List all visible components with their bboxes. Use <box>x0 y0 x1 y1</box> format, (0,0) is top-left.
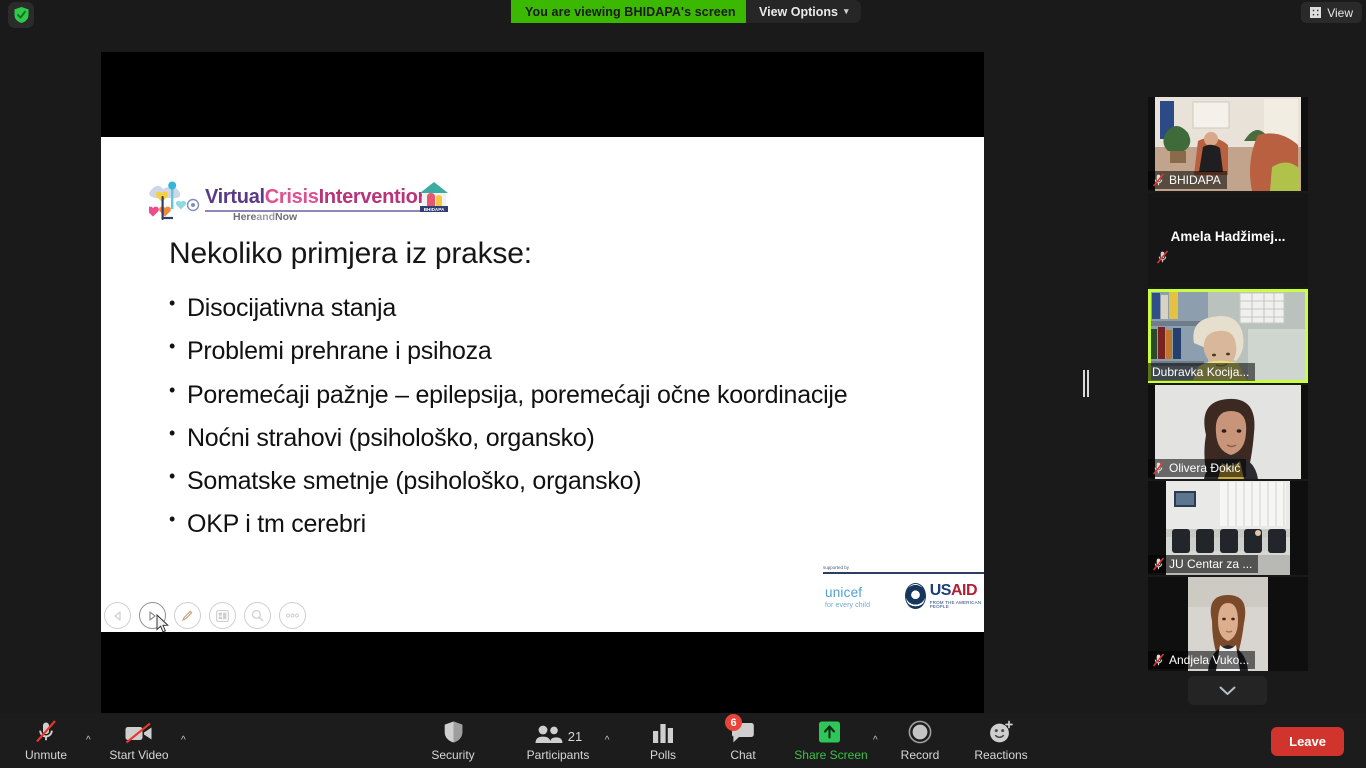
chat-button[interactable]: 6 Chat <box>703 719 783 761</box>
list-item: Noćni strahovi (psihološko, organsko) <box>169 423 899 454</box>
list-item: Poremećaji pažnje – epilepsija, poremeća… <box>169 380 899 411</box>
view-options-label: View Options <box>759 5 838 19</box>
bar-chart-icon <box>651 719 675 744</box>
participant-tile-bhidapa[interactable]: BHIDAPA <box>1148 97 1308 191</box>
zoom-search-icon[interactable] <box>244 602 271 629</box>
participant-name-badge: Andjela Vuko... <box>1148 651 1255 669</box>
usaid-logo: USAID FROM THE AMERICAN PEOPLE <box>905 583 984 610</box>
logo-sub-here: Here <box>233 211 256 223</box>
leave-label: Leave <box>1289 734 1326 749</box>
unmute-label: Unmute <box>25 749 67 761</box>
chat-unread-badge: 6 <box>725 714 742 731</box>
usaid-aid: AID <box>951 582 977 599</box>
zoom-meeting-window: You are viewing BHIDAPA's screen View Op… <box>0 0 1366 768</box>
start-video-button[interactable]: ^ Start Video <box>99 719 179 761</box>
list-item: OKP i tm cerebri <box>169 509 899 540</box>
participant-tile-olivera[interactable]: Olivera Đokić <box>1148 385 1308 479</box>
logo-sub-and: and <box>256 211 275 223</box>
view-layout-button[interactable]: View <box>1301 2 1362 23</box>
microphone-muted-icon <box>1152 461 1165 475</box>
microphone-muted-icon <box>1152 653 1165 667</box>
participant-name-badge: JU Centar za ... <box>1148 555 1258 573</box>
participant-name: Amela Hadžimej... <box>1148 229 1308 244</box>
chevron-down-icon: ▾ <box>844 6 849 17</box>
polls-label: Polls <box>650 749 676 761</box>
layout-grid-icon[interactable] <box>209 602 236 629</box>
vci-logo-subtitle: HereandNow <box>233 211 297 223</box>
viewing-screen-banner: You are viewing BHIDAPA's screen <box>511 0 750 23</box>
participant-name: Olivera Đokić <box>1169 461 1240 475</box>
audio-options-caret[interactable]: ^ <box>86 735 91 746</box>
chat-bubble-icon: 6 <box>730 719 756 744</box>
participant-name: BHIDAPA <box>1169 173 1221 187</box>
more-options-icon[interactable] <box>279 602 306 629</box>
slide-bullet-list: Disocijativna stanja Problemi prehrane i… <box>169 293 899 553</box>
presentation-slide: VirtualCrisisInterventions HereandNow BH… <box>101 137 984 632</box>
unmute-button[interactable]: ^ Unmute <box>6 719 86 761</box>
unicef-logo: unicef for every child <box>825 585 870 609</box>
unicef-tagline: for every child <box>825 602 870 609</box>
supported-by-label: supported by <box>823 565 849 570</box>
participant-name: JU Centar za ... <box>1169 557 1252 571</box>
smiley-plus-icon <box>988 719 1014 744</box>
share-screen-label: Share Screen <box>794 749 867 761</box>
participants-button[interactable]: 21 ^ Participants <box>518 719 598 761</box>
participant-tile-amela[interactable]: Amela Hadžimej... <box>1148 193 1308 287</box>
slide-sponsor-logos: supported by unicef for every child USAI… <box>823 565 984 632</box>
usaid-tagline: FROM THE AMERICAN PEOPLE <box>930 601 984 610</box>
microphone-muted-icon <box>1152 173 1165 187</box>
vci-logo-text: VirtualCrisisInterventions <box>205 186 440 209</box>
grid-icon <box>1310 7 1321 18</box>
usaid-wordmark: USAID FROM THE AMERICAN PEOPLE <box>930 583 984 610</box>
shield-icon <box>443 719 464 744</box>
record-circle-icon <box>908 719 932 744</box>
participant-name: Andjela Vuko... <box>1169 653 1249 667</box>
reactions-label: Reactions <box>974 749 1027 761</box>
participant-name-badge: BHIDAPA <box>1148 171 1227 189</box>
annotate-pen-icon[interactable] <box>174 602 201 629</box>
people-icon: 21 ^ <box>534 719 582 744</box>
share-options-caret[interactable]: ^ <box>873 735 878 746</box>
mouse-cursor <box>156 614 170 634</box>
vci-logo: VirtualCrisisInterventions HereandNow BH… <box>149 180 459 228</box>
viewing-screen-text: You are viewing BHIDAPA's screen <box>525 5 736 19</box>
logo-word-crisis: Crisis <box>265 186 319 208</box>
list-item: Problemi prehrane i psihoza <box>169 336 899 367</box>
participant-tile-dubravka[interactable]: Dubravka Kocija... <box>1148 289 1308 383</box>
vci-logo-mark <box>149 180 207 226</box>
polls-button[interactable]: Polls <box>623 719 703 761</box>
panel-drag-handle[interactable] <box>1083 370 1089 397</box>
security-button[interactable]: Security <box>413 719 493 761</box>
meeting-toolbar: ^ Unmute ^ Start Video <box>0 713 1366 768</box>
start-video-label: Start Video <box>109 749 168 761</box>
participants-count: 21 <box>568 729 582 744</box>
video-off-icon: ^ <box>124 719 154 744</box>
participant-name-badge: Olivera Đokić <box>1148 459 1246 477</box>
chat-label: Chat <box>730 749 755 761</box>
record-button[interactable]: Record <box>880 719 960 761</box>
microphone-muted-icon <box>1156 250 1169 269</box>
slide-control-toolbar <box>104 602 306 629</box>
participant-name: Dubravka Kocija... <box>1152 365 1249 379</box>
slide-title: Nekoliko primjera iz prakse: <box>169 237 532 271</box>
previous-slide-button[interactable] <box>104 602 131 629</box>
logo-word-virtual: Virtual <box>205 186 265 208</box>
reactions-button[interactable]: Reactions <box>961 719 1041 761</box>
shield-check-icon[interactable] <box>8 2 34 28</box>
participants-label: Participants <box>527 749 590 761</box>
security-label: Security <box>431 749 474 761</box>
svg-text:BHIDAPA: BHIDAPA <box>424 207 445 212</box>
list-item: Disocijativna stanja <box>169 293 899 324</box>
leave-meeting-button[interactable]: Leave <box>1271 727 1344 756</box>
usaid-seal-icon <box>905 583 926 609</box>
microphone-muted-icon: ^ <box>34 719 58 744</box>
participant-tile-andjela[interactable]: Andjela Vuko... <box>1148 577 1308 671</box>
microphone-muted-icon <box>1152 557 1165 571</box>
chevron-down-icon <box>1219 686 1236 696</box>
record-label: Record <box>901 749 940 761</box>
unicef-name: unicef <box>825 585 870 600</box>
video-options-caret[interactable]: ^ <box>181 735 186 746</box>
sponsor-divider <box>823 572 984 574</box>
usaid-us: US <box>930 582 951 599</box>
share-arrow-up-icon: ^ <box>816 719 846 744</box>
participants-caret[interactable]: ^ <box>605 735 610 746</box>
share-screen-button[interactable]: ^ Share Screen <box>791 719 871 761</box>
list-item: Somatske smetnje (psihološko, organsko) <box>169 466 899 497</box>
participant-name-badge: Dubravka Kocija... <box>1148 363 1255 381</box>
participant-tile-ju-centar[interactable]: JU Centar za ... <box>1148 481 1308 575</box>
filmstrip-scroll-down-button[interactable] <box>1188 676 1267 705</box>
bhidapa-house-icon: BHIDAPA <box>417 180 451 214</box>
logo-sub-now: Now <box>275 211 297 223</box>
participant-filmstrip: BHIDAPA Amela Hadžimej... <box>1148 97 1308 673</box>
view-options-button[interactable]: View Options ▾ <box>746 0 861 23</box>
view-button-label: View <box>1327 6 1353 20</box>
